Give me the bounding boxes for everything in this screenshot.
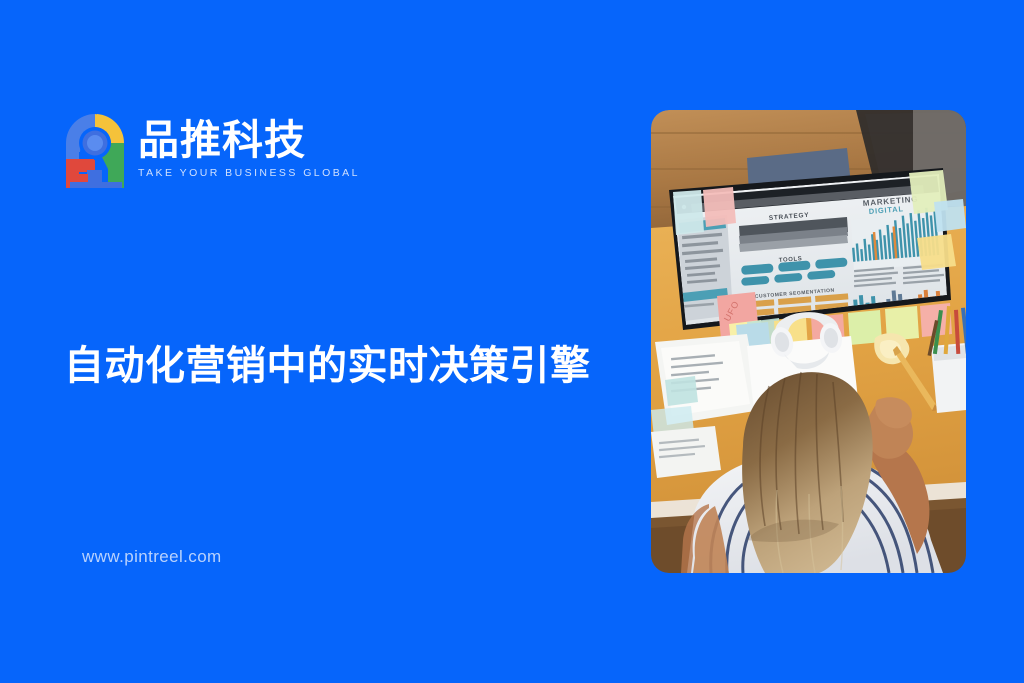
logo-text-block: 品推科技 TAKE YOUR BUSINESS GLOBAL [138, 112, 360, 179]
pintreel-p-mark-icon [64, 112, 126, 190]
page-title: 自动化营销中的实时决策引擎 [64, 343, 591, 390]
brand-logo: 品推科技 TAKE YOUR BUSINESS GLOBAL [64, 112, 360, 190]
hero-photo: STRATEGY TOOLS CUSTOMER SEGMENTATION [651, 110, 966, 573]
logo-company-name: 品推科技 [138, 120, 360, 161]
promo-banner: 品推科技 TAKE YOUR BUSINESS GLOBAL 自动化营销中的实时… [0, 0, 1024, 683]
logo-tagline: TAKE YOUR BUSINESS GLOBAL [138, 168, 360, 179]
desk-workspace-photo: STRATEGY TOOLS CUSTOMER SEGMENTATION [651, 110, 966, 573]
website-url: www.pintreel.com [82, 548, 222, 565]
